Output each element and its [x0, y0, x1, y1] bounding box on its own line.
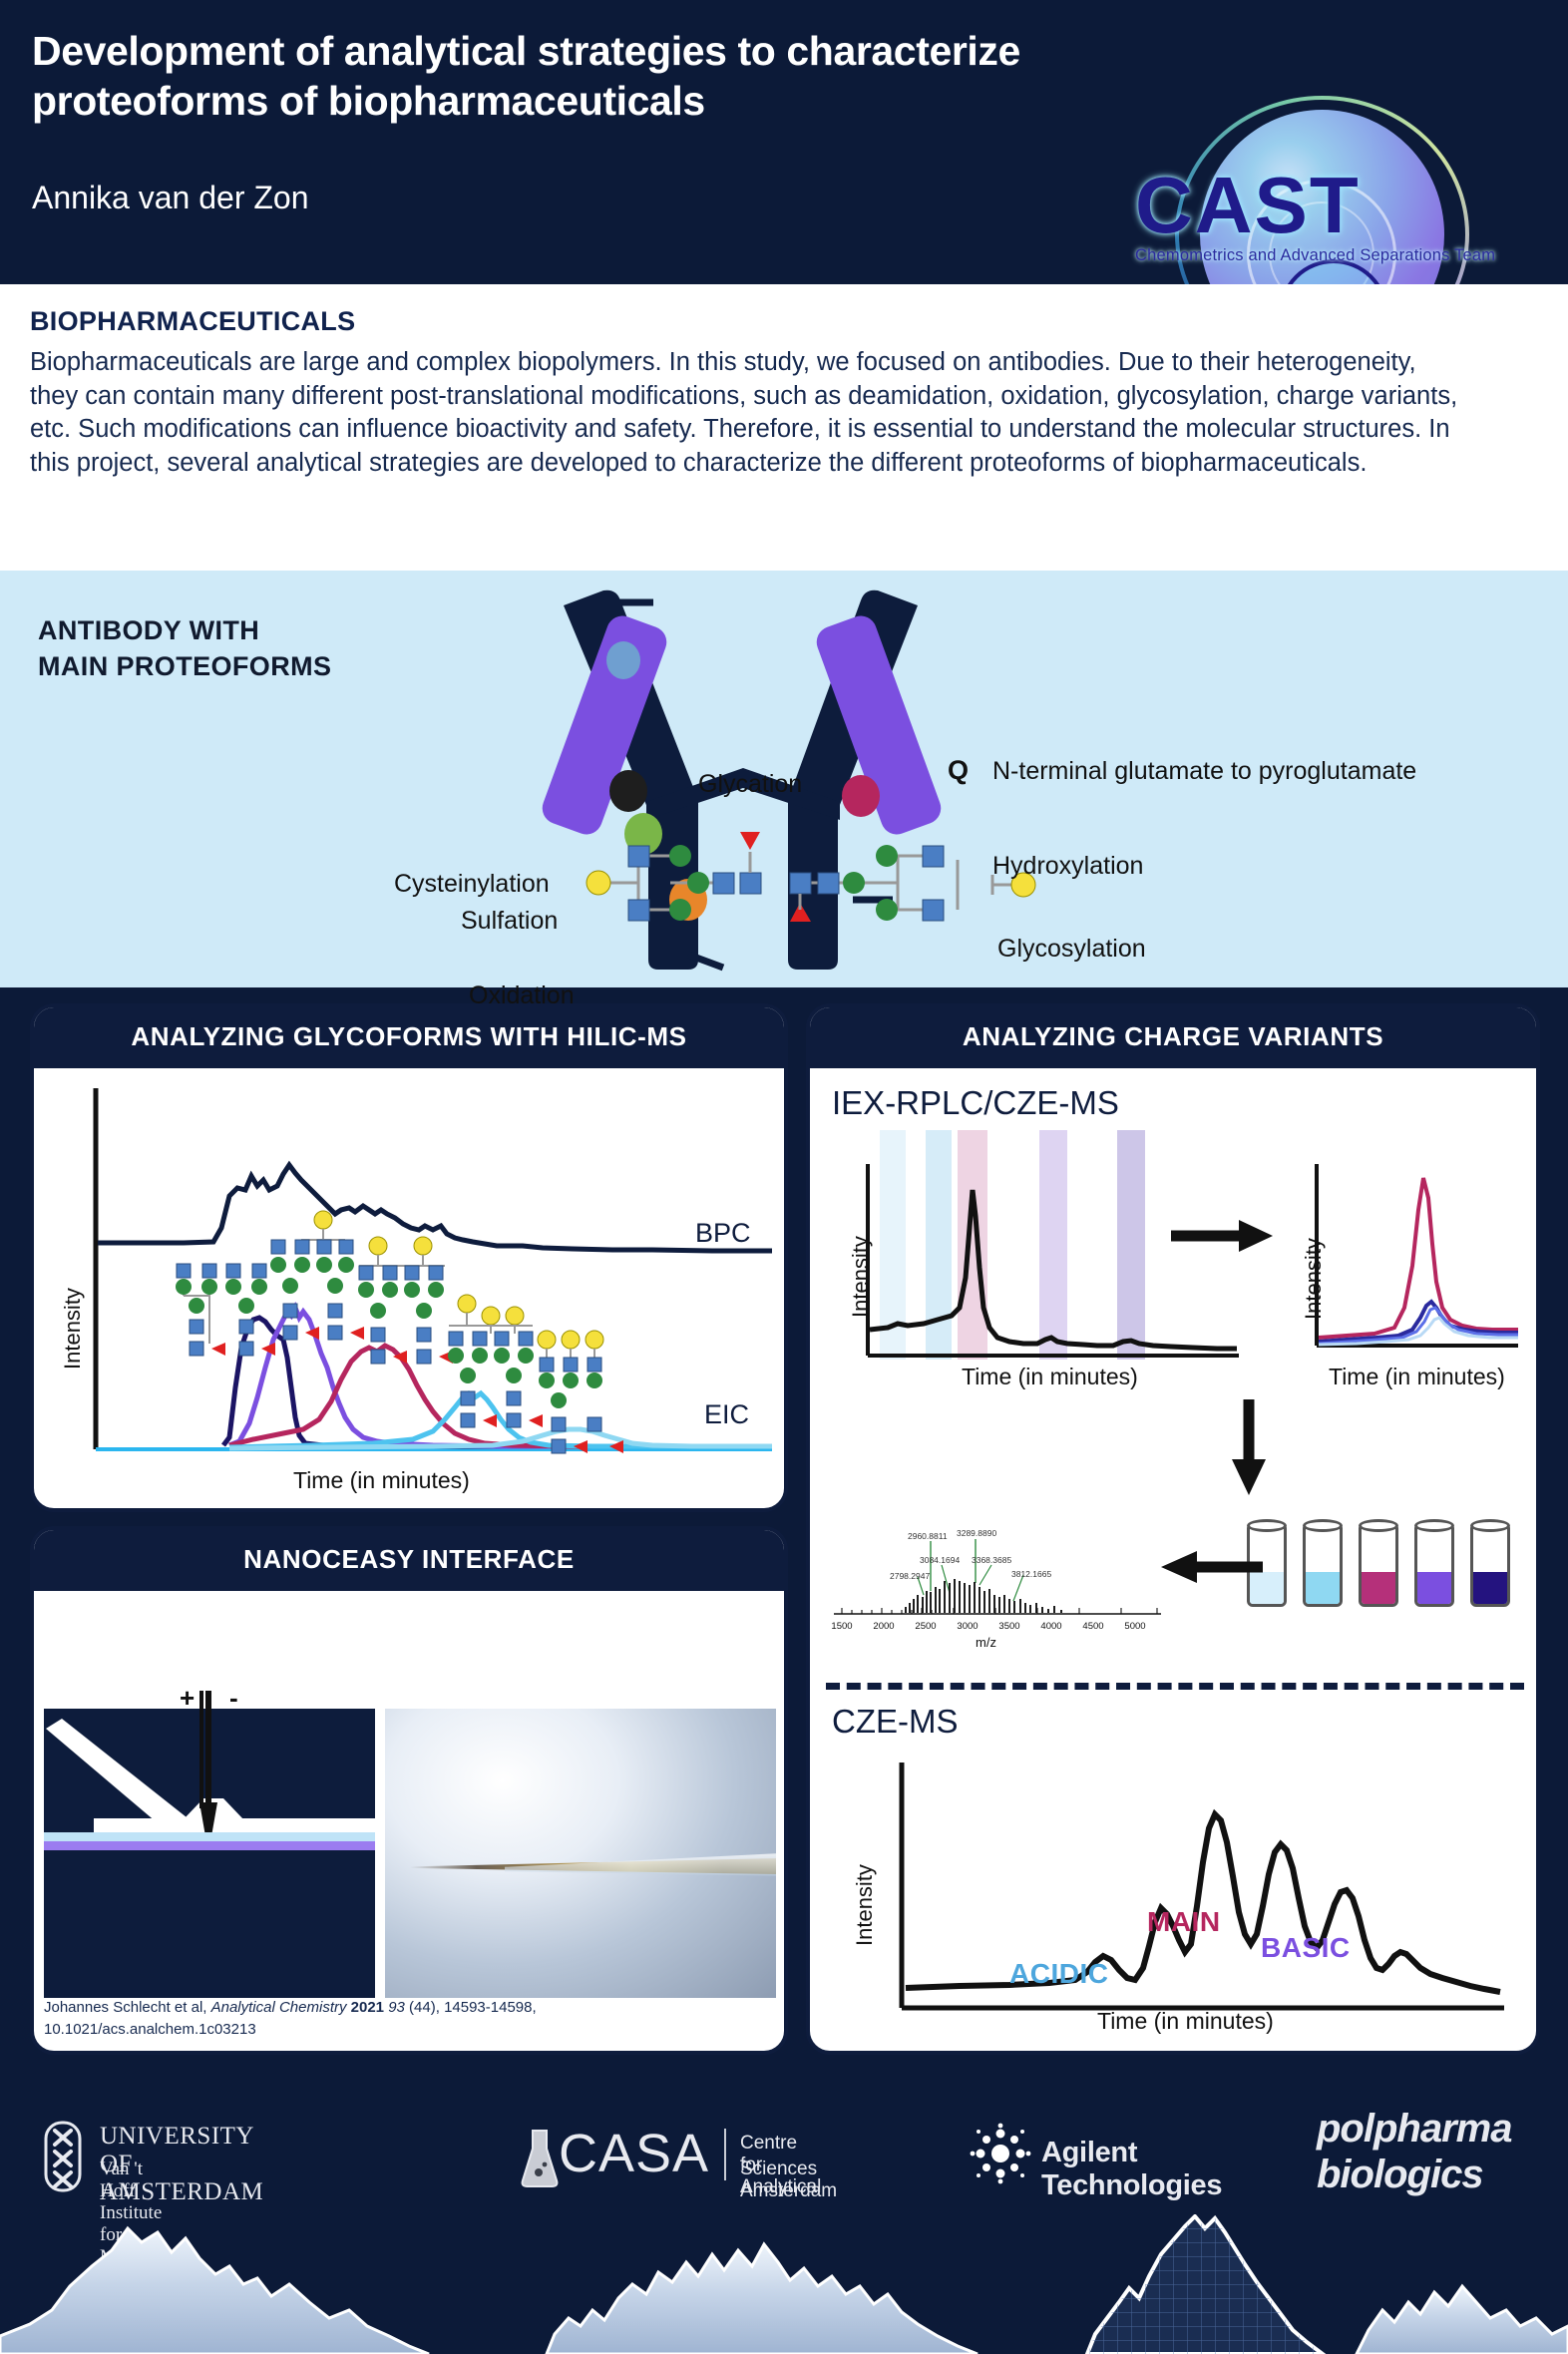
- hilic-x-axis-label: Time (in minutes): [293, 1467, 470, 1494]
- vial-3: [1359, 1519, 1398, 1607]
- hilic-y-axis-label: Intensity: [60, 1288, 86, 1370]
- flask-icon: [519, 2127, 561, 2188]
- vial-4: [1414, 1519, 1454, 1607]
- mountain-graphic: [0, 2214, 1568, 2354]
- label-pyroglutamate: N-terminal glutamate to pyroglutamate: [992, 757, 1416, 786]
- author-name: Annika van der Zon: [32, 180, 309, 216]
- vial-3-fill: [1362, 1572, 1395, 1604]
- svg-text:3084.1694: 3084.1694: [920, 1555, 960, 1565]
- intro-section: BIOPHARMACEUTICALS Biopharmaceuticals ar…: [0, 284, 1568, 571]
- peak-label-acidic: ACIDIC: [1009, 1958, 1108, 1990]
- label-glycosylation: Glycosylation: [997, 935, 1146, 964]
- cast-wordmark: CAST: [1135, 160, 1494, 251]
- vial-2-body: [1303, 1525, 1343, 1607]
- nanoceasy-citation: Johannes Schlecht et al, Analytical Chem…: [44, 1997, 742, 2040]
- vial-5-fill: [1473, 1572, 1507, 1604]
- svg-text:4000: 4000: [1040, 1621, 1061, 1632]
- iex-x-axis-label: Time (in minutes): [962, 1364, 1138, 1390]
- peak-label-basic: BASIC: [1261, 1932, 1351, 1964]
- panel-hilic-ms: ANALYZING GLYCOFORMS WITH HILIC-MS: [30, 1003, 788, 1512]
- panel-nanoceasy-title: NANOCEASY INTERFACE: [34, 1530, 784, 1591]
- panel-charge-variants: ANALYZING CHARGE VARIANTS IEX-RPLC/CZE-M…: [806, 1003, 1540, 2055]
- svg-text:2500: 2500: [915, 1621, 936, 1632]
- agilent-wordmark: Agilent Technologies: [1041, 2137, 1222, 2202]
- svg-text:3812.1665: 3812.1665: [1011, 1569, 1051, 1579]
- electrode-minus-label: -: [229, 1683, 238, 1714]
- citation-volume: 93: [384, 1999, 405, 2016]
- label-cysteinylation: Cysteinylation: [394, 870, 550, 899]
- intro-heading: BIOPHARMACEUTICALS: [30, 306, 355, 337]
- vial-2-fill: [1306, 1572, 1340, 1604]
- arrow-down-icon: [1227, 1397, 1271, 1497]
- vial-3-cap: [1359, 1519, 1398, 1532]
- vial-1-cap: [1247, 1519, 1287, 1532]
- second-dim-y-axis-label: Intensity: [1301, 1238, 1327, 1320]
- electrode-plus-label: +: [180, 1683, 195, 1714]
- citation-doi: 10.1021/acs.analchem.1c03213: [44, 2021, 256, 2038]
- svg-text:3368.3685: 3368.3685: [972, 1555, 1011, 1565]
- mass-spectrum-chart: 15002000 25003000 35004000 45005000 2798…: [824, 1509, 1163, 1659]
- vial-2-cap: [1303, 1519, 1343, 1532]
- arrow-left-icon: [1157, 1549, 1267, 1585]
- cast-logo-subtitle: Chemometrics and Advanced Separations Te…: [1135, 246, 1524, 265]
- agilent-star-icon: [970, 2123, 1031, 2184]
- peak-label-main: MAIN: [1147, 1906, 1221, 1938]
- citation-year: 2021: [346, 1999, 384, 2016]
- panel-divider: [826, 1683, 1524, 1690]
- intro-body: Biopharmaceuticals are large and complex…: [30, 346, 1466, 481]
- antibody-section: ANTIBODY WITH MAIN PROTEOFORMS: [0, 571, 1568, 987]
- svg-text:4500: 4500: [1082, 1621, 1103, 1632]
- label-sulfation: Sulfation: [461, 907, 558, 936]
- uva-crest-icon: [40, 2119, 86, 2194]
- svg-text:5000: 5000: [1124, 1621, 1145, 1632]
- hilic-chromatogram-chart: [34, 1068, 784, 1511]
- page-title: Development of analytical strategies to …: [32, 26, 1109, 126]
- vial-5-cap: [1470, 1519, 1510, 1532]
- cze-subtitle: CZE-MS: [832, 1703, 959, 1741]
- vial-4-body: [1414, 1525, 1454, 1607]
- iex-subtitle: IEX-RPLC/CZE-MS: [832, 1084, 1119, 1122]
- emitter-photo: [385, 1709, 776, 1998]
- vial-5-body: [1470, 1525, 1510, 1607]
- fraction-vials: [1247, 1519, 1526, 1629]
- vial-5: [1470, 1519, 1510, 1607]
- polpharma-line1: polpharma: [1317, 2107, 1511, 2152]
- polpharma-line2: biologics: [1317, 2153, 1483, 2197]
- cze-x-axis-label: Time (in minutes): [1097, 2008, 1274, 2035]
- cze-y-axis-label: Intensity: [852, 1864, 878, 1946]
- casa-sub-line2: Sciences Amsterdam: [740, 2158, 837, 2202]
- glycation-dot-icon: [606, 641, 640, 679]
- svg-text:2798.2947: 2798.2947: [890, 1571, 930, 1581]
- svg-text:2960.8811: 2960.8811: [908, 1531, 948, 1541]
- vial-2: [1303, 1519, 1343, 1607]
- panel-charge-title: ANALYZING CHARGE VARIANTS: [810, 1007, 1536, 1068]
- casa-divider: [724, 2129, 726, 2180]
- arrow-right-icon: [1169, 1216, 1279, 1256]
- svg-text:2000: 2000: [873, 1621, 894, 1632]
- citation-pages: (44), 14593-14598,: [405, 1999, 537, 2016]
- label-hydroxylation: Hydroxylation: [992, 852, 1143, 881]
- label-glycation: Glycation: [698, 770, 802, 799]
- svg-text:3500: 3500: [998, 1621, 1019, 1632]
- casa-wordmark: CASA: [559, 2123, 709, 2184]
- citation-journal: Analytical Chemistry: [211, 1999, 347, 2016]
- cysteinylation-dot-icon: [609, 770, 647, 812]
- hydroxylation-dot-icon: [842, 775, 880, 817]
- svg-text:3289.8890: 3289.8890: [957, 1528, 996, 1538]
- second-dim-x-axis-label: Time (in minutes): [1329, 1364, 1505, 1390]
- poster-footer: UNIVERSITY OF AMSTERDAM Van 't Hoff Inst…: [0, 2093, 1568, 2354]
- iex-y-axis-label: Intensity: [848, 1236, 874, 1318]
- nanoceasy-schematic: [34, 1691, 385, 2010]
- bpc-trace-label: BPC: [695, 1218, 751, 1249]
- vial-3-body: [1359, 1525, 1398, 1607]
- eic-trace-label: EIC: [704, 1399, 749, 1430]
- mz-axis-label: m/z: [976, 1635, 996, 1650]
- svg-text:3000: 3000: [957, 1621, 978, 1632]
- cze-ms-chart: [830, 1757, 1518, 2031]
- vial-4-cap: [1414, 1519, 1454, 1532]
- citation-authors: Johannes Schlecht et al,: [44, 1999, 211, 2016]
- poster-header: Development of analytical strategies to …: [0, 0, 1568, 284]
- marker-q: Q: [948, 755, 969, 786]
- svg-text:1500: 1500: [831, 1621, 852, 1632]
- vial-4-fill: [1417, 1572, 1451, 1604]
- panel-hilic-title: ANALYZING GLYCOFORMS WITH HILIC-MS: [34, 1007, 784, 1068]
- panel-nanoceasy: NANOCEASY INTERFACE + -: [30, 1526, 788, 2055]
